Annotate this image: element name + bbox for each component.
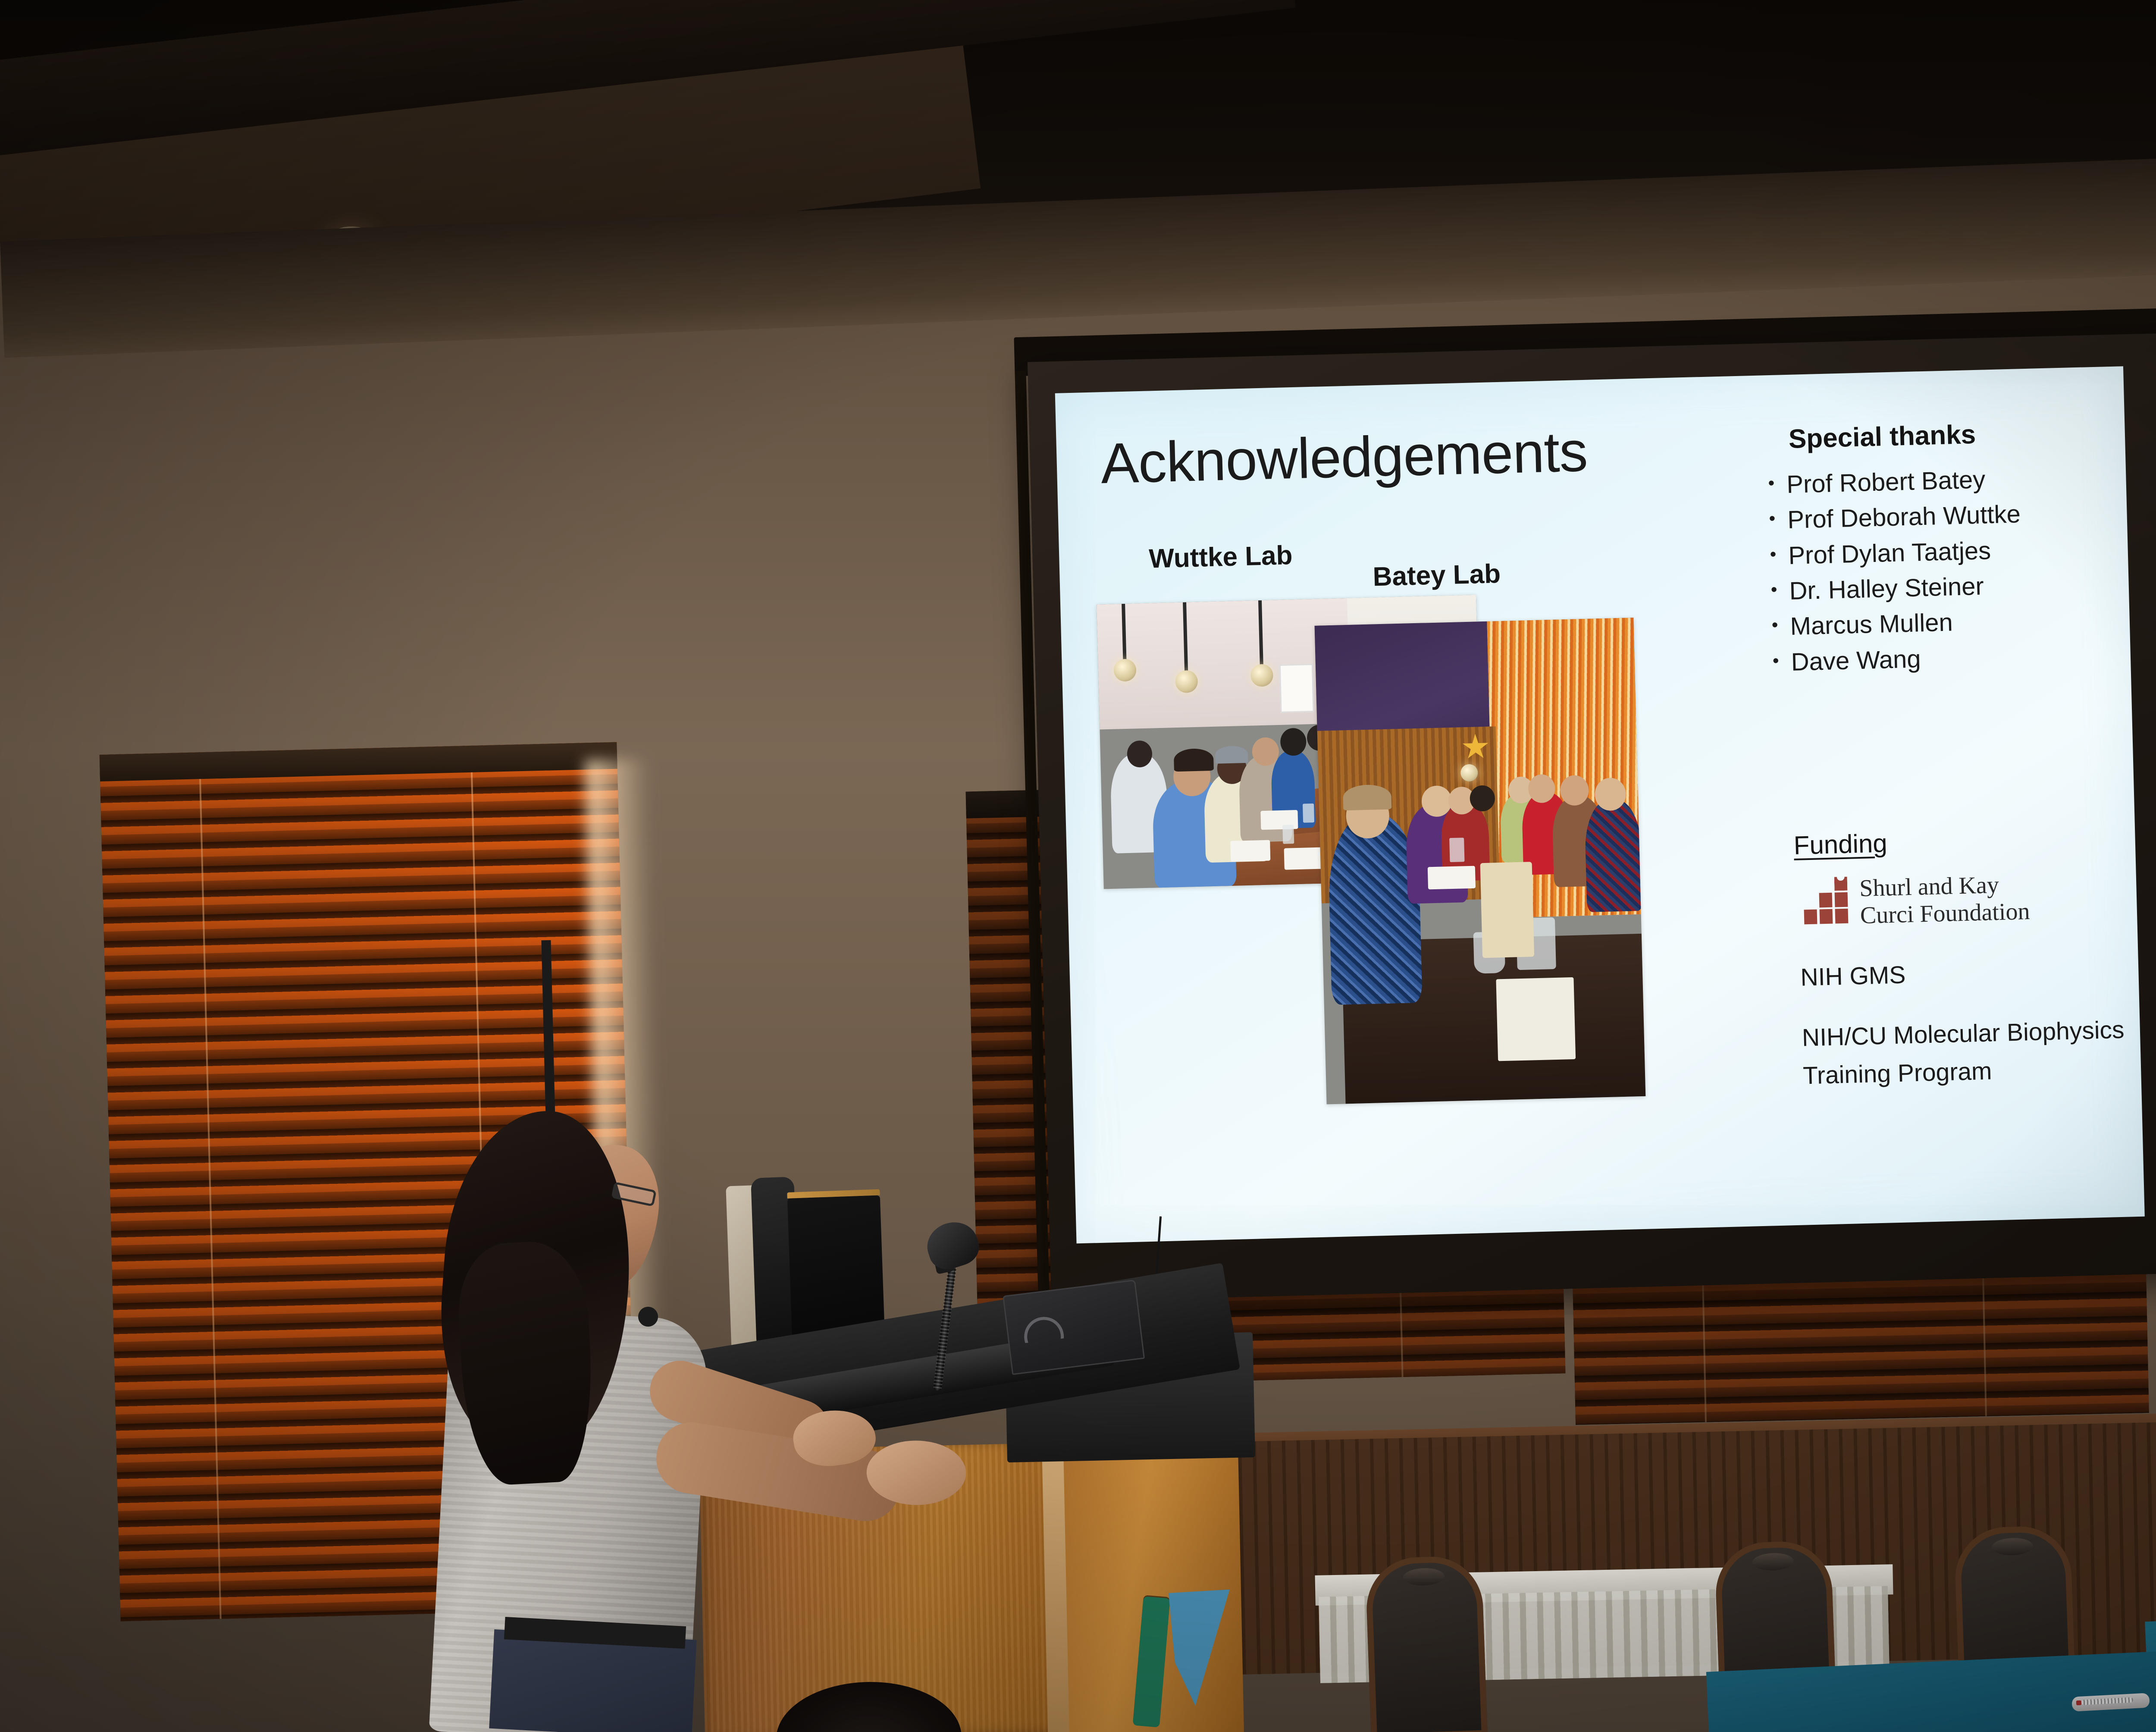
- slide-title: Acknowledgements: [1100, 423, 1588, 493]
- glass: [1303, 803, 1314, 823]
- glass: [1449, 838, 1464, 862]
- bullet-icon: •: [1769, 503, 1776, 534]
- presentation-slide: Acknowledgements Wuttke Lab Batey Lab: [1055, 366, 2145, 1243]
- thanks-name: Dr. Halley Steiner: [1789, 569, 1984, 609]
- projection-screen: Acknowledgements Wuttke Lab Batey Lab: [1028, 333, 2156, 1302]
- thanks-name: Prof Robert Batey: [1786, 462, 1986, 502]
- napkin-holder: [1496, 977, 1576, 1061]
- lab-label-batey: Batey Lab: [1373, 559, 1501, 592]
- person-head: [1280, 728, 1307, 756]
- blind-cord[interactable]: [199, 779, 222, 1619]
- thanks-name: Dave Wang: [1791, 641, 1921, 680]
- lapel-microphone: [638, 1307, 658, 1327]
- curci-blocks-icon: [1803, 880, 1849, 926]
- logo-blue-triangle-icon: [1169, 1590, 1232, 1707]
- bullet-icon: •: [1771, 574, 1778, 605]
- special-thanks-heading: Special thanks: [1788, 419, 1976, 455]
- thanks-name: Marcus Mullen: [1790, 605, 1953, 645]
- plate: [1284, 847, 1326, 869]
- menu-card: [1480, 862, 1535, 958]
- person-hair: [1174, 748, 1214, 772]
- person: [1584, 799, 1643, 912]
- banquet-chair[interactable]: [1365, 1555, 1487, 1732]
- plate: [1230, 840, 1270, 862]
- person-beanie: [1215, 746, 1248, 764]
- special-thanks-list: •Prof Robert Batey •Prof Deborah Wuttke …: [1768, 458, 2135, 681]
- plate: [1428, 866, 1476, 890]
- photo-batey-lab: [1315, 618, 1646, 1104]
- bullet-icon: •: [1772, 645, 1780, 676]
- bullet-icon: •: [1771, 609, 1779, 640]
- curci-logo-text: Shurl and Kay Curci Foundation: [1859, 871, 2031, 929]
- glass: [1282, 825, 1294, 844]
- funding-heading: Funding: [1793, 828, 1888, 860]
- podium-logo: [1113, 1581, 1245, 1732]
- bullet-icon: •: [1768, 468, 1775, 499]
- bullet-icon: •: [1770, 538, 1777, 569]
- curci-foundation-logo: Shurl and Kay Curci Foundation: [1803, 871, 2031, 931]
- lab-label-wuttke: Wuttke Lab: [1149, 540, 1293, 574]
- funding-source-training-program: NIH/CU Molecular Biophysics Training Pro…: [1802, 1010, 2145, 1095]
- laptop[interactable]: [1003, 1280, 1145, 1375]
- funding-source-nih: NIH GMS: [1800, 956, 1906, 996]
- logo-green-stripe-icon: [1133, 1596, 1170, 1727]
- thanks-name: Prof Dylan Taatjes: [1788, 533, 1991, 574]
- thanks-name: Prof Deborah Wuttke: [1787, 497, 2021, 538]
- wall-art: [1279, 664, 1314, 713]
- presentation-room-scene: Acknowledgements Wuttke Lab Batey Lab: [0, 0, 2156, 1732]
